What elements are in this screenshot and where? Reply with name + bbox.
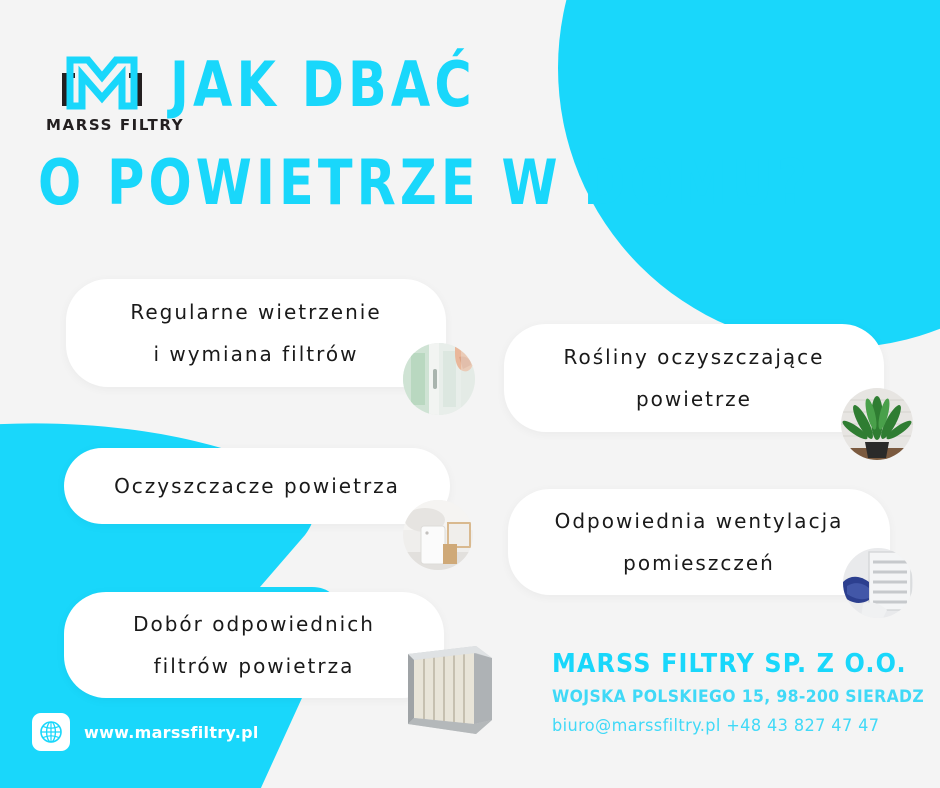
contact-block: MARSS FILTRY SP. Z O.O. WOJSKA POLSKIEGO… [552,651,922,735]
window-ventilation-photo [403,343,475,415]
air-vent-cleaning-photo [843,548,913,618]
brand-logo: MARSS FILTRY [46,54,158,142]
logo-wordmark: MARSS FILTRY [46,116,158,134]
tip-line-1: Oczyszczacze powietrza [114,476,400,496]
globe-icon [32,713,70,751]
tip-card-plants: Rośliny oczyszczające powietrze [504,324,884,432]
tip-line-1: Regularne wietrzenie [130,302,381,322]
tip-card-text: Regularne wietrzenie i wymiana filtrów [130,302,381,364]
company-email-phone[interactable]: biuro@marssfiltry.pl +48 43 827 47 47 [552,718,904,735]
tip-card-ventilation: Regularne wietrzenie i wymiana filtrów [66,279,446,387]
tip-card-text: Dobór odpowiednich filtrów powietrza [133,614,375,676]
air-purifier-photo [403,500,473,570]
pleated-air-filter-photo [402,644,498,742]
tip-line-2: powietrze [564,389,825,409]
marss-m-logo-icon [58,54,146,112]
infographic-poster: MARSS FILTRY JAK DBAĆ O POWIETRZE W DOMU… [0,0,940,788]
company-name: MARSS FILTRY SP. Z O.O. [552,651,892,677]
tip-card-text: Rośliny oczyszczające powietrze [564,347,825,409]
headline-line-2: O POWIETRZE W DOMU? [38,152,811,214]
tip-card-filter-selection: Dobór odpowiednich filtrów powietrza [64,592,444,698]
website-url[interactable]: www.marssfiltry.pl [84,723,259,742]
headline-line-1: JAK DBAĆ [170,54,476,116]
tip-line-1: Dobór odpowiednich [133,614,375,634]
tip-line-1: Rośliny oczyszczające [564,347,825,367]
company-address: WOJSKA POLSKIEGO 15, 98-200 SIERADZ [552,689,892,706]
potted-fern-plant-photo [841,388,913,460]
tip-card-text: Odpowiednia wentylacja pomieszczeń [555,511,844,573]
tip-line-1: Odpowiednia wentylacja [555,511,844,531]
website-badge[interactable]: www.marssfiltry.pl [32,713,259,751]
tip-line-2: i wymiana filtrów [130,344,381,364]
tip-line-2: pomieszczeń [555,553,844,573]
tip-line-2: filtrów powietrza [133,656,375,676]
tip-card-air-purifiers: Oczyszczacze powietrza [64,448,450,524]
tip-card-room-ventilation: Odpowiednia wentylacja pomieszczeń [508,489,890,595]
tip-card-text: Oczyszczacze powietrza [114,476,400,496]
